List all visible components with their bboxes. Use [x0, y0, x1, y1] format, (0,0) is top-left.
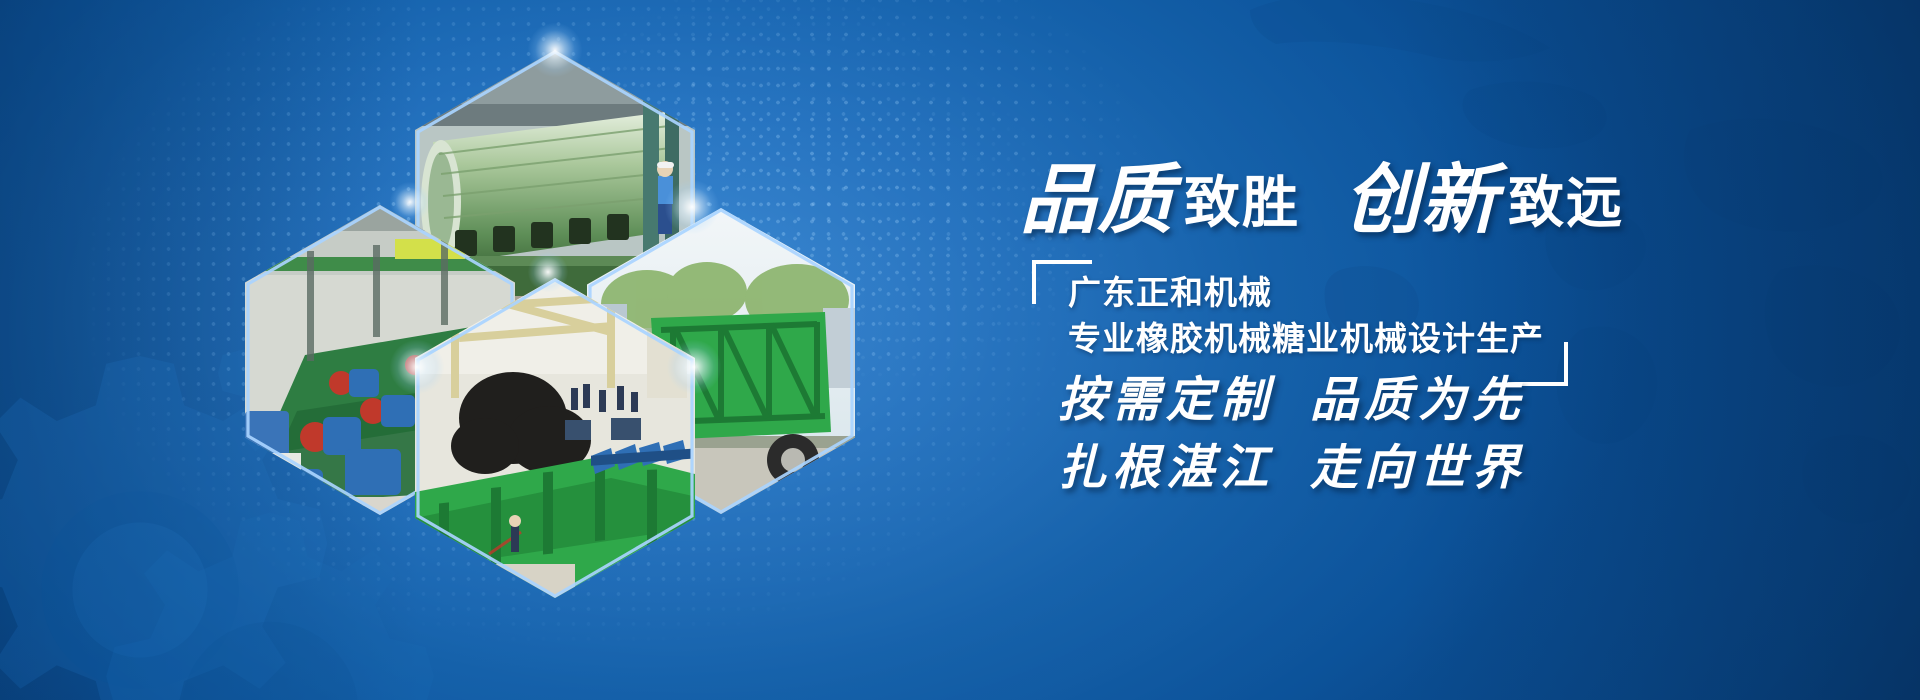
- headline-part1-plain: 致胜: [1184, 171, 1300, 236]
- slogan-2-left: 扎根湛江: [1058, 440, 1274, 496]
- subtitle-bracket-box: 广东正和机械 专业橡胶机械糖业机械设计生产: [1032, 260, 1552, 372]
- slogan-2-right: 走向世界: [1310, 440, 1526, 496]
- subtitle-line-2: 专业橡胶机械糖业机械设计生产: [1068, 312, 1544, 360]
- headline-part2-plain: 致远: [1508, 171, 1624, 236]
- headline: 品质致胜创新致远: [1020, 138, 1624, 248]
- slogan-1-left: 按需定制: [1058, 372, 1274, 428]
- slogan-1-right: 品质为先: [1310, 372, 1526, 428]
- headline-part2-brush: 创新: [1344, 155, 1498, 244]
- hexagon-cluster: [215, 40, 875, 580]
- slogan-line-2: 扎根湛江走向世界: [1058, 428, 1526, 498]
- subtitle-line-1: 广东正和机械: [1068, 266, 1272, 314]
- slogan-line-1: 按需定制品质为先: [1058, 360, 1526, 430]
- banner-root: 品质致胜创新致远 广东正和机械 专业橡胶机械糖业机械设计生产 按需定制品质为先 …: [0, 0, 1920, 700]
- banner-text-block: 品质致胜创新致远 广东正和机械 专业橡胶机械糖业机械设计生产 按需定制品质为先 …: [1020, 110, 1900, 630]
- headline-part1-brush: 品质: [1020, 155, 1174, 244]
